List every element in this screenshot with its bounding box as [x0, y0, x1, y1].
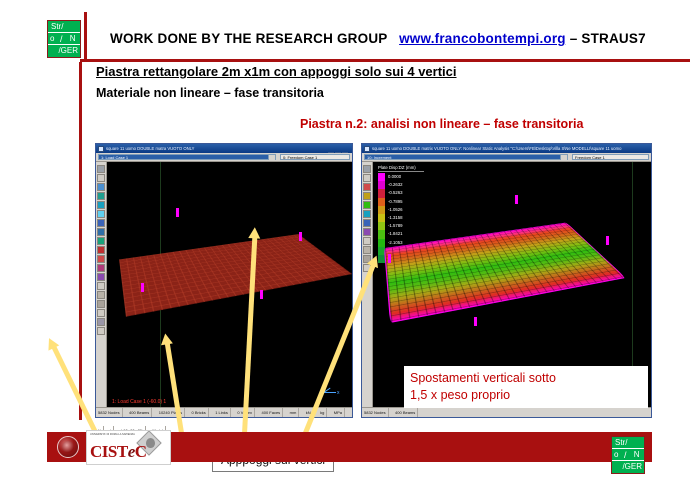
- status-cell: 400 Beams: [127, 408, 152, 417]
- chevron-down-icon[interactable]: [560, 155, 567, 160]
- cistec-wordmark: CISTeC: [90, 442, 147, 462]
- legend-value: 0.0000: [388, 173, 401, 181]
- legend-value: -0.2632: [388, 181, 403, 189]
- status-cell: 400 Faces: [260, 408, 284, 417]
- zoom-tool-icon[interactable]: [97, 174, 105, 182]
- vertical-displacement-note: Spostamenti verticali sotto 1,5 x peso p…: [404, 366, 648, 408]
- stronger-logo-footer: Str/ o / N /GER: [611, 436, 645, 474]
- vector-tool-icon[interactable]: [363, 210, 371, 218]
- support-marker-1: [176, 208, 179, 217]
- load-tool-icon[interactable]: [97, 246, 105, 254]
- left-window-title: square 11 uomo DOUBLE matra VUOTO ONLY: [106, 144, 194, 153]
- legend-swatch: [378, 214, 385, 222]
- freedom-case-select[interactable]: 0: Freedom Case 1: [280, 154, 350, 160]
- university-seal-logo: [57, 436, 79, 458]
- support-marker-1: [515, 195, 518, 204]
- legend-swatch: [378, 230, 385, 238]
- freedom-case-select[interactable]: Freedom Case 1: [572, 154, 649, 160]
- support-marker-4: [260, 290, 263, 299]
- copy-tool-icon[interactable]: [97, 318, 105, 326]
- mass-tool-icon[interactable]: [97, 264, 105, 272]
- restraint-tool-icon[interactable]: [97, 237, 105, 245]
- load-case-value: 1: Load Case 1: [99, 155, 275, 161]
- plate-tool-icon[interactable]: [97, 192, 105, 200]
- legend-title: Plate Disp:DZ (mm): [378, 165, 424, 172]
- status-cell: 1 Links: [213, 408, 231, 417]
- status-cell: mm: [288, 408, 300, 417]
- header-title-suffix: – STRAUS7: [570, 31, 646, 46]
- logo-line-2a: o: [614, 450, 618, 459]
- legend-swatch: [378, 198, 385, 206]
- chevron-down-icon[interactable]: [268, 155, 275, 160]
- cistec-logo: UNIVERSITA' DI ROMA LA SAPIENZA CISTeC: [86, 430, 171, 465]
- app-icon: [98, 146, 104, 152]
- legend-value: -1.3158: [388, 214, 403, 222]
- header-vertical-rule: [84, 12, 87, 60]
- status-cell: 0 Bricks: [190, 408, 209, 417]
- increment-select[interactable]: 10: Increment: [364, 154, 568, 160]
- freedom-case-value: 0: Freedom Case 1: [281, 155, 349, 161]
- legend-value: -1.8421: [388, 230, 403, 238]
- support-marker-2: [606, 236, 609, 245]
- mirror-tool-icon[interactable]: [97, 327, 105, 335]
- extrude-tool-icon[interactable]: [97, 300, 105, 308]
- pick-tool-icon[interactable]: [97, 210, 105, 218]
- support-marker-2: [299, 232, 302, 241]
- grid-tool-icon[interactable]: [97, 282, 105, 290]
- right-window-toolbar[interactable]: 10: Increment Freedom Case 1: [362, 153, 651, 162]
- page-title-red: Piastra n.2: analisi non lineare – fase …: [300, 117, 583, 131]
- sidebar-rule: RISANAMENTO DI UN MOSAICO: [79, 62, 82, 420]
- attribute-tool-icon[interactable]: [97, 228, 105, 236]
- note-line-1: Spostamenti verticali sotto: [410, 370, 642, 387]
- logo-line-2a: o: [50, 34, 54, 43]
- load-case-select[interactable]: 1: Load Case 1: [98, 154, 276, 160]
- results-tool-icon[interactable]: [363, 201, 371, 209]
- left-window-titlebar[interactable]: square 11 uomo DOUBLE matra VUOTO ONLY: [96, 144, 352, 153]
- legend-value: -1.5789: [388, 222, 403, 230]
- support-marker-3: [388, 254, 391, 263]
- plate-mesh: [119, 234, 352, 317]
- status-cell: MPa: [332, 408, 345, 417]
- legend-value: -0.7895: [388, 198, 403, 206]
- zoom-tool-icon[interactable]: [363, 174, 371, 182]
- header-title: WORK DONE BY THE RESEARCH GROUP www.fran…: [110, 31, 670, 46]
- legend-value: -0.5263: [388, 189, 403, 197]
- straus7-window-left[interactable]: square 11 uomo DOUBLE matra VUOTO ONLY 1…: [95, 143, 353, 418]
- legend-value: -1.0526: [388, 206, 403, 214]
- page-title-primary: Piastra rettangolare 2m x1m con appoggi …: [96, 64, 457, 79]
- window-buttons[interactable]: [327, 145, 351, 151]
- app-icon: [364, 146, 370, 152]
- peek-tool-icon[interactable]: [363, 219, 371, 227]
- logo-line-2b: N: [70, 34, 76, 43]
- legend-swatch: [378, 173, 385, 181]
- logo-line-1: Str/: [615, 438, 627, 447]
- right-window-title: square 11 uomo DOUBLE matrix VUOTO ONLY:…: [372, 144, 621, 153]
- load-case-overlay-label: 1: Load Case 1 (-60.0) 1: [112, 399, 166, 405]
- cistec-part-3: C: [135, 442, 147, 461]
- select-tool-icon[interactable]: [97, 165, 105, 173]
- logo-line-2b: N: [634, 450, 640, 459]
- select-tool-icon[interactable]: [363, 165, 371, 173]
- left-window-tool-palette[interactable]: [96, 162, 107, 407]
- animate-tool-icon[interactable]: [363, 237, 371, 245]
- support-marker-4: [474, 317, 477, 326]
- legend-swatch: [378, 206, 385, 214]
- freedom-case-value: Freedom Case 1: [573, 155, 648, 161]
- increment-value: 10: Increment: [365, 155, 567, 161]
- status-cell: 5832 Nodes: [96, 408, 123, 417]
- slide-root: Str/ o / N /GER WORK DONE BY THE RESEARC…: [0, 0, 700, 495]
- page-title-secondary: Materiale non lineare – fase transitoria: [96, 86, 324, 100]
- logo-line-3: /GER: [58, 46, 78, 55]
- cistec-university-label: UNIVERSITA' DI ROMA LA SAPIENZA: [90, 433, 135, 436]
- cistec-part-2: e: [128, 442, 135, 461]
- research-group-link[interactable]: www.francobontempi.org: [399, 31, 566, 46]
- legend-swatch: [378, 189, 385, 197]
- line-tool-icon[interactable]: [97, 183, 105, 191]
- cistec-part-1: CIST: [90, 442, 128, 461]
- header-rule: [80, 59, 690, 62]
- header-title-prefix: WORK DONE BY THE RESEARCH GROUP: [110, 31, 387, 46]
- subdivide-tool-icon[interactable]: [97, 309, 105, 317]
- scale-tool-icon[interactable]: [363, 246, 371, 254]
- legend-swatch: [378, 239, 385, 247]
- node-tool-icon[interactable]: [97, 219, 105, 227]
- legend-swatch: [378, 181, 385, 189]
- brick-tool-icon[interactable]: [97, 201, 105, 209]
- support-marker-3: [141, 283, 144, 292]
- status-cell: 400 Beams: [393, 408, 418, 417]
- logo-line-3: /GER: [622, 462, 642, 471]
- displacement-tool-icon[interactable]: [363, 192, 371, 200]
- left-model-canvas[interactable]: x 1: Load Case 1 (-60.0) 1: [108, 162, 352, 407]
- note-line-2: 1,5 x peso proprio: [410, 387, 642, 404]
- logo-line-1: Str/: [51, 22, 63, 31]
- graph-tool-icon[interactable]: [363, 228, 371, 236]
- status-cell: 5832 Nodes: [362, 408, 389, 417]
- right-window-statusbar: 5832 Nodes 400 Beams: [362, 407, 651, 417]
- left-window-toolbar[interactable]: 1: Load Case 1 0: Freedom Case 1: [96, 153, 352, 162]
- legend-swatch: [378, 222, 385, 230]
- pressure-tool-icon[interactable]: [97, 255, 105, 263]
- axis-label-x: x: [337, 390, 340, 396]
- contour-tool-icon[interactable]: [363, 183, 371, 191]
- mesh-tool-icon[interactable]: [97, 291, 105, 299]
- group-tool-icon[interactable]: [97, 273, 105, 281]
- plate-model: [119, 234, 352, 317]
- stronger-logo-header: Str/ o / N /GER: [47, 20, 81, 58]
- right-window-titlebar[interactable]: square 11 uomo DOUBLE matrix VUOTO ONLY:…: [362, 144, 651, 153]
